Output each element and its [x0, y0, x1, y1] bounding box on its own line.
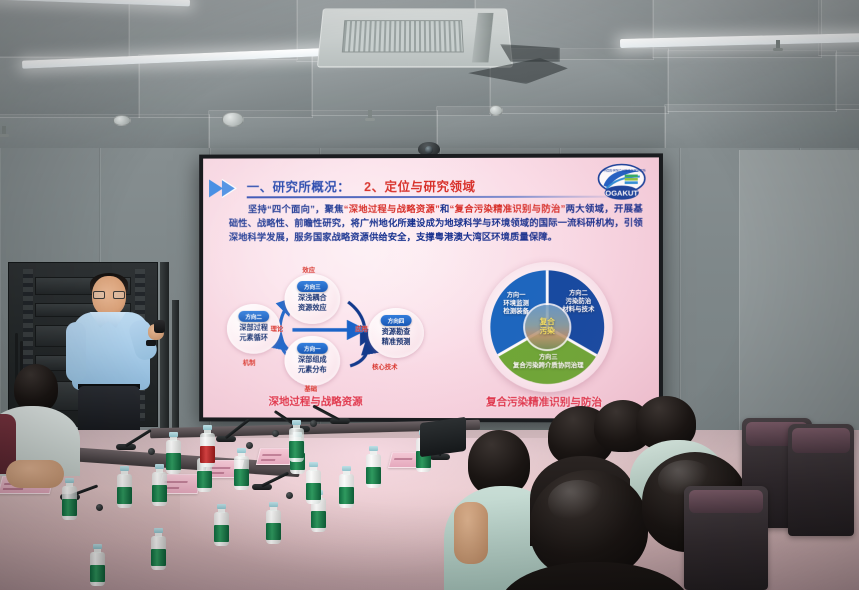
svg-text:中国科学院广州地球化学研究所: 中国科学院广州地球化学研究所: [604, 167, 646, 172]
node-pill: 方向三: [297, 281, 328, 292]
air-conditioner-vent: [317, 8, 513, 67]
node-line-1: 深浅耦合: [298, 293, 327, 302]
node-pill: 方向四: [381, 315, 412, 326]
node-line-1: 资源勘查: [382, 327, 411, 336]
presenter-left-arm: [66, 322, 86, 382]
stand-pole: [172, 300, 179, 438]
projection-screen: 一、研究所概况：2、定位与研究领域 中国科学院广州地球化学研究所 OGAKUT: [199, 153, 663, 422]
ogakut-logo: 中国科学院广州地球化学研究所 OGAKUT: [594, 163, 648, 203]
cycle-node-direction-4: 方向四 资源勘查 精准预测: [368, 308, 424, 358]
pie-pill-3: 方向三: [494, 354, 602, 362]
pie-center-line-2: 污染: [540, 326, 555, 335]
smoke-detector-icon: [489, 105, 503, 116]
ceiling: [0, 0, 859, 150]
water-bottle: [90, 544, 105, 586]
node-pill: 方向一: [297, 343, 328, 354]
smoke-detector-icon: [222, 112, 244, 127]
cycle-node-direction-1: 方向一 深部组成 元素分布: [284, 336, 340, 386]
presenter-person: [62, 276, 170, 436]
pie-center-text: 复合 污染: [540, 318, 555, 335]
water-bottle: [306, 462, 321, 504]
water-bottle: [266, 502, 281, 544]
slide-title: 一、研究所概况：2、定位与研究领域: [247, 176, 577, 196]
water-bottle: [166, 432, 181, 474]
water-bottle: [234, 448, 249, 490]
node-line-2: 元素循环: [239, 333, 268, 342]
slide-paragraph: 坚持“四个面向”，聚焦“深地过程与战略资源”和“复合污染精准识别与防治”两大领域…: [229, 202, 643, 245]
water-bottle: [117, 466, 132, 508]
water-bottle: [214, 504, 229, 546]
office-chair: [684, 486, 768, 590]
sprinkler-icon: [2, 126, 6, 136]
para-q1: “四个面向”: [267, 204, 315, 214]
smoke-detector-icon: [113, 115, 131, 126]
sprinkler-icon: [368, 110, 372, 120]
node-text: 深部组成 元素分布: [284, 355, 340, 374]
para-p1: 坚持: [248, 204, 267, 214]
para-highlight-2: “复合污染精准识别与防治”: [450, 204, 566, 214]
node-text: 资源勘查 精准预测: [368, 327, 424, 346]
node-line-1: 深部组成: [298, 355, 327, 364]
water-bottle: [151, 528, 166, 570]
conference-room-photo: 一、研究所概况：2、定位与研究领域 中国科学院广州地球化学研究所 OGAKUT: [0, 0, 859, 590]
slide-content: 一、研究所概况：2、定位与研究领域 中国科学院广州地球化学研究所 OGAKUT: [203, 157, 659, 418]
sprinkler-icon: [776, 40, 780, 50]
logo-text: OGAKUT: [605, 189, 638, 198]
node-pill: 方向二: [238, 311, 269, 322]
para-p3: 和: [440, 204, 450, 214]
left-cycle-diagram: 方向二 深部过程 元素循环 机制 方向三 深浅耦合 资源效应 效应: [223, 266, 432, 396]
node-line-2: 元素分布: [298, 365, 327, 374]
title-divider: [247, 196, 629, 199]
office-chair: [788, 424, 854, 536]
node-side-label-effect: 效应: [302, 265, 315, 274]
right-pie-diagram: 方向一 环境监测 检测装备 方向二 污染防治 材料与技术 方向三 复合污染跨介质…: [474, 258, 621, 401]
pie-pill-1: 方向一: [494, 292, 538, 300]
water-bottle: [339, 466, 354, 508]
double-chevron-right-icon: [209, 178, 243, 198]
water-bottle: [152, 464, 167, 506]
presentation-clicker-icon: [154, 320, 165, 333]
edge-label-theory: 理论: [271, 324, 284, 333]
para-p2: ，聚焦: [315, 204, 344, 214]
right-wall: [739, 150, 859, 450]
water-bottle: [200, 425, 215, 467]
water-bottle: [62, 478, 77, 520]
desktop-monitor: [420, 417, 466, 457]
node-text: 深浅耦合 资源效应: [284, 293, 340, 312]
cycle-node-direction-3: 方向三 深浅耦合 资源效应: [284, 274, 340, 324]
pie-pill-2: 方向二: [554, 290, 602, 298]
node-line-2: 精准预测: [382, 337, 411, 346]
water-bottle: [289, 420, 304, 462]
node-side-label-mechanism: 机制: [243, 358, 256, 367]
edge-label-application: 应用: [355, 324, 368, 333]
water-bottle: [366, 446, 381, 488]
node-side-label-basis: 基础: [304, 384, 317, 393]
pie-label-direction-3: 方向三 复合污染跨介质协同治理: [494, 354, 602, 371]
pie-line-3a: 复合污染跨介质协同治理: [494, 362, 602, 371]
slide-subsection: 2、定位与研究领域: [364, 180, 475, 194]
node-line-2: 资源效应: [298, 303, 327, 312]
node-side-label-core-tech: 核心技术: [372, 362, 398, 371]
node-line-1: 深部过程: [239, 323, 268, 332]
wristwatch-icon: [146, 340, 156, 346]
glasses-icon: [93, 291, 125, 299]
para-highlight-1: “深地过程与战略资源”: [344, 204, 440, 214]
slide-section: 一、研究所概况：: [247, 180, 350, 194]
pie-center-badge: 复合 污染: [525, 305, 569, 349]
